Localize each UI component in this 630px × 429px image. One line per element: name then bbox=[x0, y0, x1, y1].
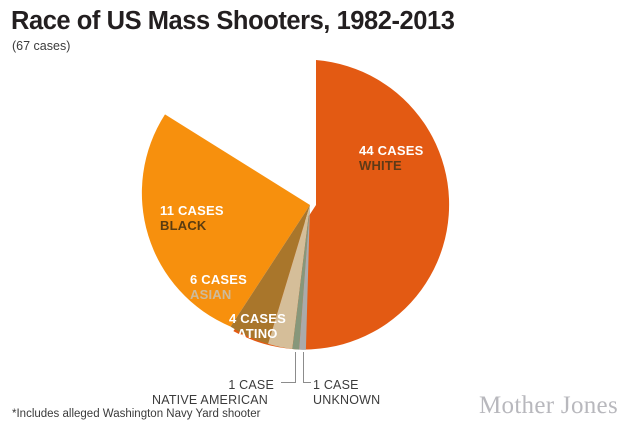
leader-line-unknown bbox=[304, 352, 312, 383]
slice-label-white-name: WHITE bbox=[359, 158, 423, 173]
slice-label-latino: 4 CASES LATINO bbox=[229, 311, 286, 342]
pie-chart-figure: Race of US Mass Shooters, 1982-2013 (67 … bbox=[0, 0, 630, 429]
slice-label-native-american: 1 CASE NATIVE AMERICAN bbox=[152, 378, 274, 408]
slice-label-unknown-name: UNKNOWN bbox=[313, 393, 380, 408]
slice-label-black-name: BLACK bbox=[160, 218, 224, 233]
slice-label-white: 44 CASES WHITE bbox=[359, 143, 423, 174]
slice-label-unknown-count: 1 CASE bbox=[313, 378, 380, 393]
leader-line-native-american bbox=[281, 352, 296, 383]
slice-label-white-count: 44 CASES bbox=[359, 143, 423, 158]
pie-chart-graphic bbox=[0, 0, 630, 429]
slice-label-black: 11 CASES BLACK bbox=[160, 203, 224, 234]
slice-label-latino-count: 4 CASES bbox=[229, 311, 286, 326]
mother-jones-logo: Mother Jones bbox=[479, 392, 618, 420]
slice-label-asian-count: 6 CASES bbox=[190, 272, 247, 287]
chart-footnote: *Includes alleged Washington Navy Yard s… bbox=[12, 408, 260, 420]
slice-label-latino-name: LATINO bbox=[229, 326, 286, 341]
slice-label-native-american-count: 1 CASE bbox=[152, 378, 274, 393]
slice-label-native-american-name: NATIVE AMERICAN bbox=[152, 393, 274, 408]
slice-label-unknown: 1 CASE UNKNOWN bbox=[313, 378, 380, 408]
slice-label-asian: 6 CASES ASIAN bbox=[190, 272, 247, 303]
slice-label-black-count: 11 CASES bbox=[160, 203, 224, 218]
slice-label-asian-name: ASIAN bbox=[190, 287, 247, 302]
